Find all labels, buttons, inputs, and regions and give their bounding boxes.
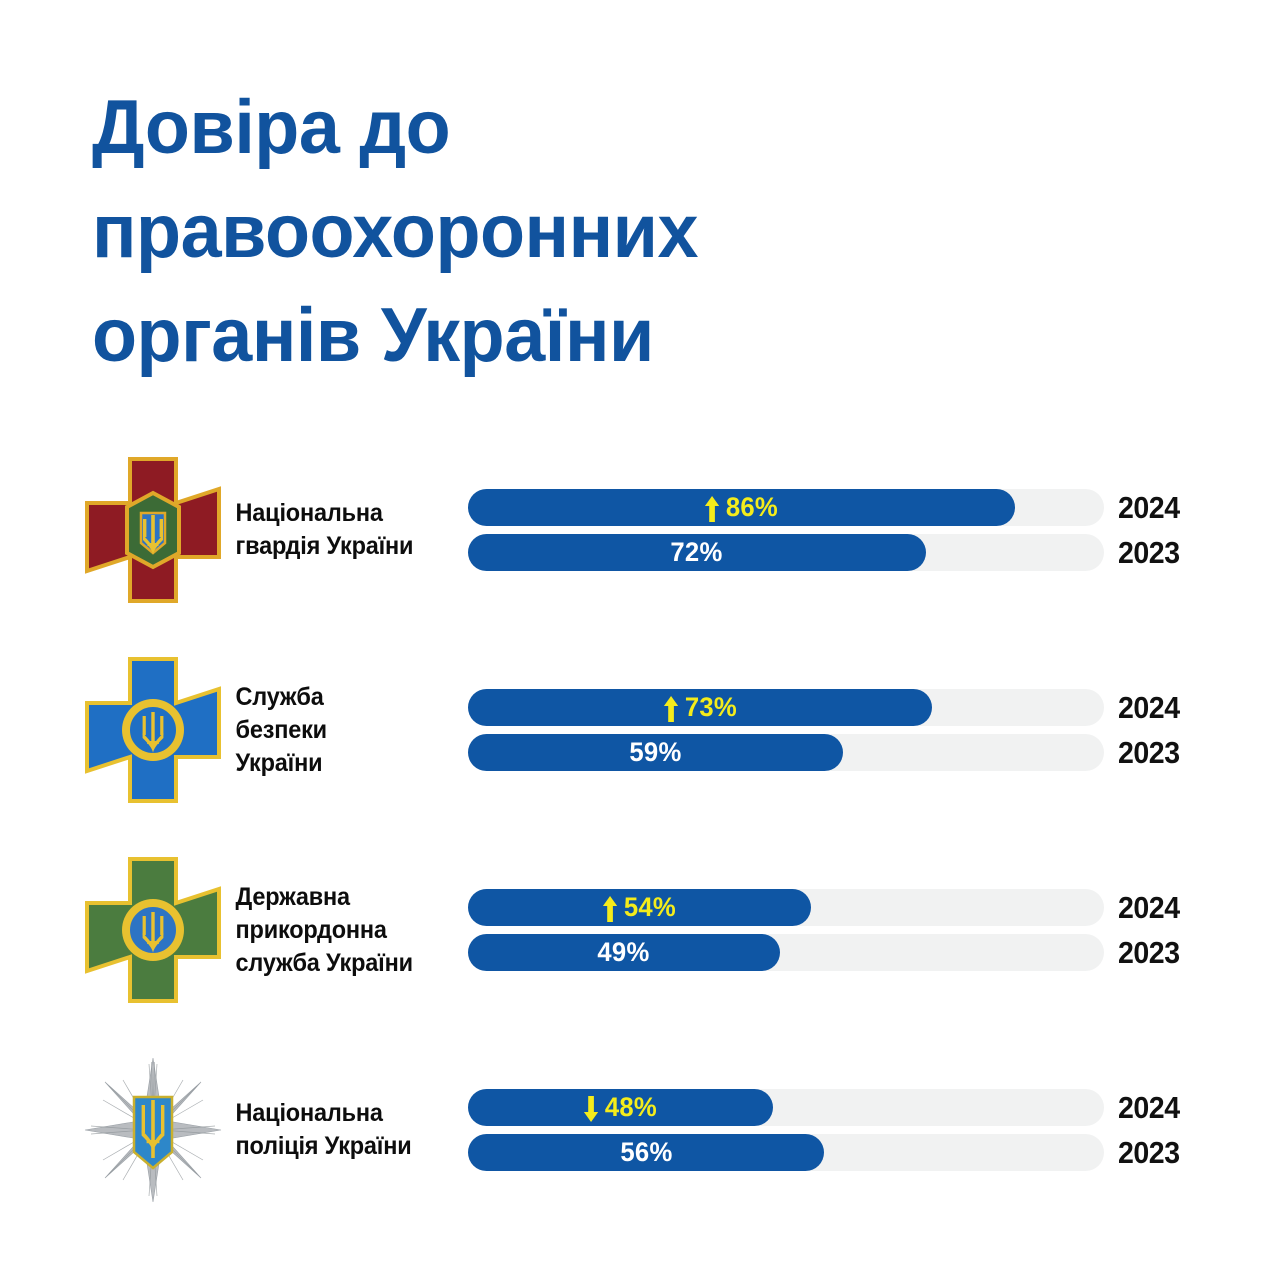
bar-value-2024: 48%	[584, 1094, 657, 1122]
bar-fill-2024[interactable]: 48%	[468, 1089, 773, 1126]
agency-name-line: гвардія України	[236, 530, 454, 563]
title-line-1: Довіра до	[92, 76, 868, 180]
agency-name-line: Державна	[236, 881, 454, 914]
year-label-2023: 2023	[1118, 737, 1206, 768]
bars-national-guard: 86% 2024 72% 2023	[468, 489, 1280, 571]
bar-value-text: 54%	[624, 892, 676, 922]
bar-value-text: 73%	[684, 692, 736, 722]
title-line-2: правоохоронних	[92, 180, 868, 284]
bar-fill-2023[interactable]: 56%	[468, 1134, 824, 1171]
bar-track: 56%	[468, 1134, 1104, 1171]
bar-fill-2023[interactable]: 49%	[468, 934, 780, 971]
agency-name-national-police: Національна поліція України	[228, 1097, 454, 1163]
bar-track: 59%	[468, 734, 1104, 771]
bar-value-2023: 56%	[620, 1139, 672, 1166]
year-label-2023: 2023	[1118, 937, 1206, 968]
agency-name-border-guard: Державна прикордонна служба України	[228, 881, 454, 980]
national-police-emblem	[78, 1055, 228, 1205]
bars-border-guard: 54% 2024 49% 2023	[468, 889, 1280, 971]
bar-track: 86%	[468, 489, 1104, 526]
bar-value-text: 48%	[605, 1092, 657, 1122]
bar-line-2024: 86% 2024	[468, 489, 1272, 526]
arrow-up-icon	[603, 896, 617, 922]
bar-line-2023: 59% 2023	[468, 734, 1272, 771]
chart-row-security-service: Служба безпеки України 73% 2024 5	[0, 630, 1280, 830]
bar-fill-2023[interactable]: 72%	[468, 534, 926, 571]
national-guard-emblem	[78, 455, 228, 605]
agency-name-line: поліція України	[236, 1130, 454, 1163]
bar-fill-2024[interactable]: 54%	[468, 889, 811, 926]
bar-line-2023: 72% 2023	[468, 534, 1272, 571]
infographic-poster: Довіра до правоохоронних органів України	[0, 0, 1280, 1280]
title-line-3: органів України	[92, 284, 868, 388]
arrow-down-icon	[584, 1096, 598, 1122]
bar-track: 48%	[468, 1089, 1104, 1126]
chart-row-national-guard: Національна гвардія України 86% 2024 72%	[0, 430, 1280, 630]
bar-track: 72%	[468, 534, 1104, 571]
agency-name-line: Національна	[236, 497, 454, 530]
arrow-up-icon	[705, 496, 719, 522]
year-label-2023: 2023	[1118, 1137, 1206, 1168]
bar-line-2024: 48% 2024	[468, 1089, 1272, 1126]
bar-value-2023: 59%	[630, 739, 682, 766]
chart-rows: Національна гвардія України 86% 2024 72%	[0, 430, 1280, 1230]
bar-track: 49%	[468, 934, 1104, 971]
bar-track: 73%	[468, 689, 1104, 726]
chart-row-national-police: Національна поліція України 48% 2024 56%	[0, 1030, 1280, 1230]
agency-name-line: Служба	[236, 681, 454, 714]
bar-line-2024: 54% 2024	[468, 889, 1272, 926]
bar-value-2023: 49%	[598, 939, 650, 966]
year-label-2024: 2024	[1118, 692, 1206, 723]
bars-security-service: 73% 2024 59% 2023	[468, 689, 1280, 771]
bars-national-police: 48% 2024 56% 2023	[468, 1089, 1280, 1171]
chart-row-border-guard: Державна прикордонна служба України 54% …	[0, 830, 1280, 1030]
bar-line-2024: 73% 2024	[468, 689, 1272, 726]
year-label-2023: 2023	[1118, 537, 1206, 568]
bar-fill-2024[interactable]: 86%	[468, 489, 1015, 526]
border-guard-emblem	[78, 855, 228, 1005]
bar-value-2023: 72%	[671, 539, 723, 566]
agency-name-line: України	[236, 747, 454, 780]
agency-name-line: Національна	[236, 1097, 454, 1130]
bar-value-text: 86%	[726, 492, 778, 522]
year-label-2024: 2024	[1118, 1092, 1206, 1123]
bar-track: 54%	[468, 889, 1104, 926]
agency-name-security-service: Служба безпеки України	[228, 681, 454, 780]
arrow-up-icon	[664, 696, 678, 722]
agency-name-line: безпеки	[236, 714, 454, 747]
year-label-2024: 2024	[1118, 492, 1206, 523]
agency-name-line: служба України	[236, 947, 454, 980]
bar-line-2023: 49% 2023	[468, 934, 1272, 971]
bar-fill-2023[interactable]: 59%	[468, 734, 843, 771]
bar-value-2024: 73%	[664, 694, 737, 722]
bar-value-2024: 54%	[603, 894, 676, 922]
security-service-emblem	[78, 655, 228, 805]
agency-name-line: прикордонна	[236, 914, 454, 947]
bar-line-2023: 56% 2023	[468, 1134, 1272, 1171]
bar-value-2024: 86%	[705, 494, 778, 522]
bar-fill-2024[interactable]: 73%	[468, 689, 932, 726]
page-title: Довіра до правоохоронних органів України	[92, 76, 892, 388]
agency-name-national-guard: Національна гвардія України	[228, 497, 454, 563]
year-label-2024: 2024	[1118, 892, 1206, 923]
